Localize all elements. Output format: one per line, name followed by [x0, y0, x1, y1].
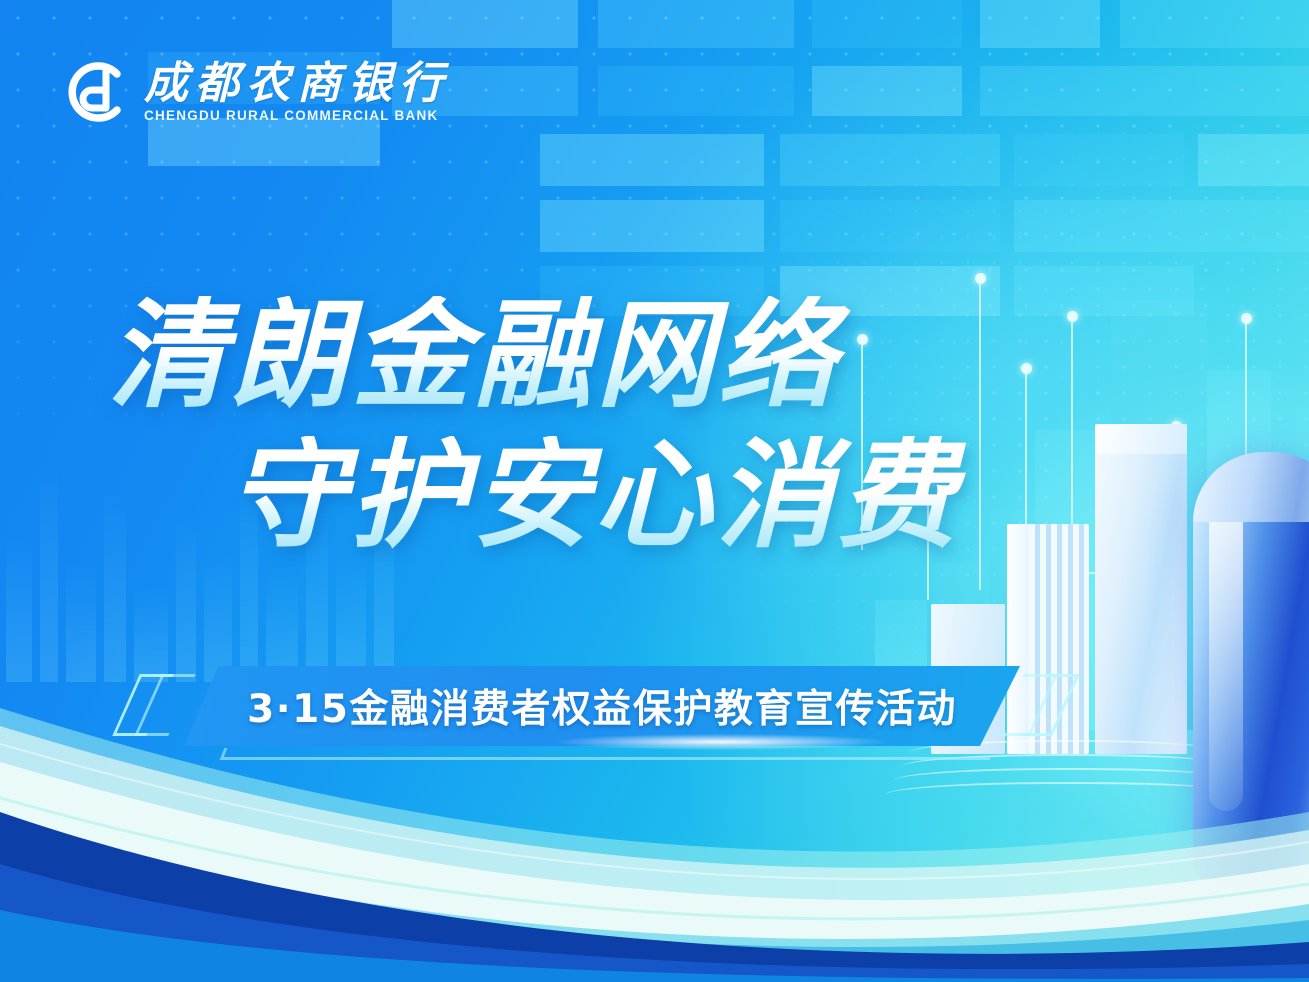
headline-block: 清朗金融网络 守护安心消费: [0, 296, 1080, 554]
brand-name-en: CHENGDU RURAL COMMERCIAL BANK: [144, 108, 450, 123]
promo-banner: 成都农商银行 CHENGDU RURAL COMMERCIAL BANK 清朗金…: [0, 0, 1309, 982]
brand-name-cn: 成都农商银行: [144, 62, 450, 106]
ribbon-underline: [220, 748, 995, 760]
chengdu-rcb-circular-mark: [62, 58, 130, 126]
subtitle-ribbon: 3·15金融消费者权益保护教育宣传活动: [126, 660, 1066, 752]
brand-logo[interactable]: 成都农商银行 CHENGDU RURAL COMMERCIAL BANK: [62, 58, 450, 126]
headline-line-2: 守护安心消费: [0, 436, 1080, 554]
subtitle-text: 3·15金融消费者权益保护教育宣传活动: [184, 666, 1020, 746]
headline-line-1: 清朗金融网络: [0, 296, 1080, 414]
